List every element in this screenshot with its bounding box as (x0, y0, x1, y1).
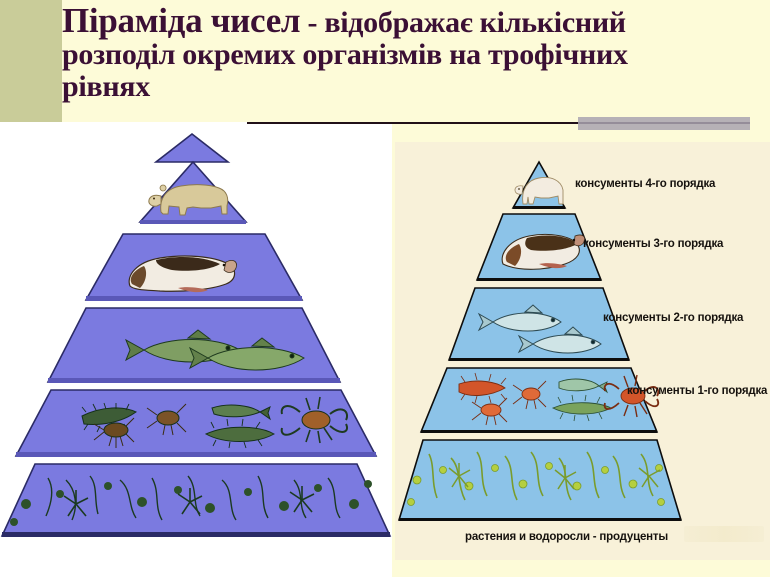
left-tier-apex (156, 134, 228, 162)
left-pyramid-figure (0, 122, 392, 577)
title-line-3: рівнях (62, 71, 768, 103)
slide-canvas: Піраміда чисел - відображає кількісний р… (0, 0, 770, 577)
right-tier-consumers-4 (505, 162, 573, 212)
label-consumers-2: консументы 2-го порядка (603, 312, 743, 324)
title-line-1-rest: - відображає кількісний (300, 6, 626, 39)
title-line-2: розподіл окремих організмів на трофічних (62, 39, 768, 71)
left-tier-2 (86, 234, 302, 306)
right-tier-consumers-2 (449, 288, 629, 366)
label-consumers-4: консументы 4-го порядка (575, 178, 715, 190)
label-consumers-3: консументы 3-го порядка (583, 238, 723, 250)
title-emphasis: Піраміда чисел (62, 1, 300, 40)
title-line-1: Піраміда чисел - відображає кількісний (62, 2, 768, 39)
left-tier-5 (2, 464, 390, 542)
label-producers: растения и водоросли - продуценты (465, 531, 668, 543)
right-tier-producers (399, 440, 681, 526)
left-tier-1 (123, 162, 263, 230)
left-tier-4 (16, 390, 376, 462)
right-pyramid-figure: консументы 4-го порядка консументы 3-го … (395, 142, 770, 560)
page-title: Піраміда чисел - відображає кількісний р… (62, 2, 768, 103)
label-consumers-1: консументы 1-го порядка (627, 385, 767, 397)
watermark (684, 526, 764, 542)
left-tier-3 (48, 308, 340, 388)
right-tier-consumers-1 (421, 368, 657, 438)
decorative-grey-bar (578, 117, 750, 130)
right-tier-consumers-3 (477, 214, 601, 286)
decorative-left-band (0, 0, 62, 128)
